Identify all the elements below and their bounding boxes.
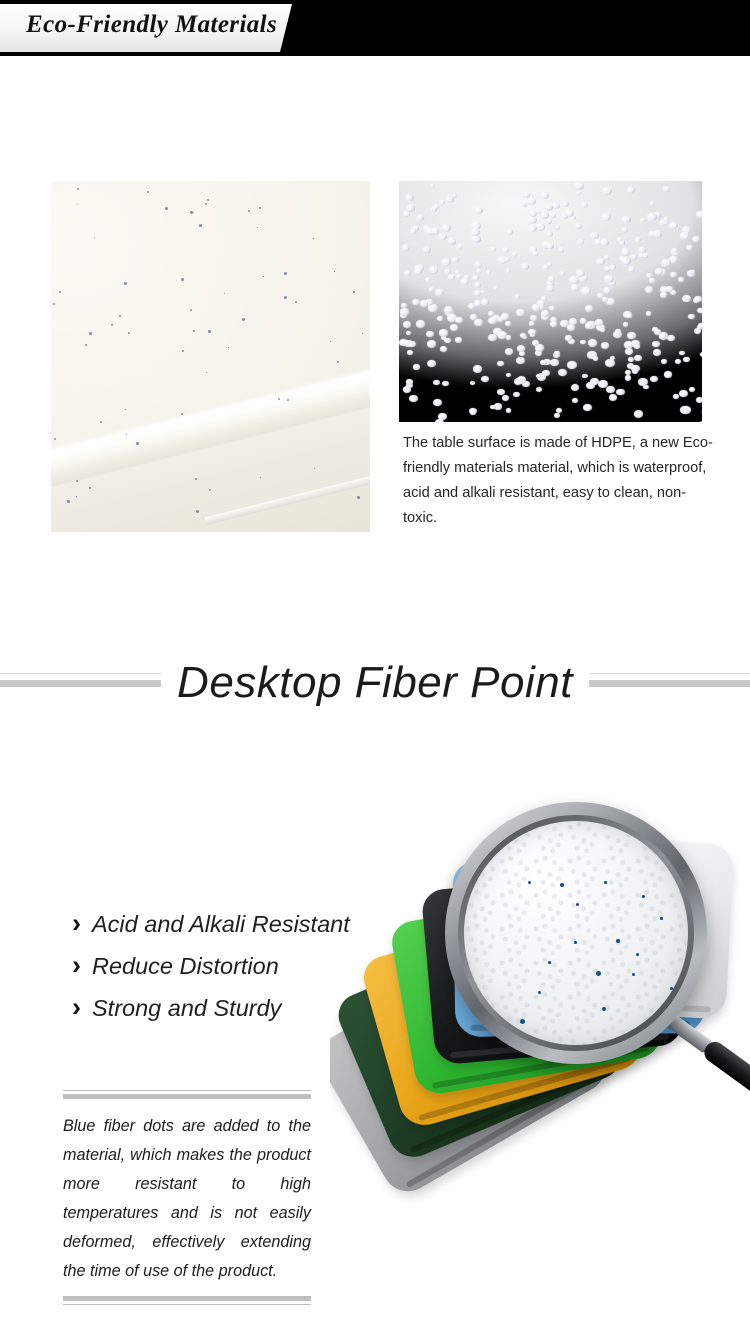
- hdpe-pellet: [650, 201, 655, 205]
- fiber-dot: [295, 301, 297, 303]
- hdpe-pellet: [646, 273, 652, 278]
- hdpe-pellet: [628, 357, 634, 362]
- hdpe-pellet: [506, 408, 511, 412]
- bullet-acid-alkali-resistant: › Acid and Alkali Resistant: [72, 910, 452, 952]
- hdpe-pellet: [630, 254, 637, 260]
- hdpe-pellet: [527, 216, 537, 224]
- hdpe-pellet: [696, 211, 702, 218]
- hdpe-pellet: [604, 255, 609, 259]
- hdpe-pellet: [416, 215, 423, 221]
- hdpe-pellet: [541, 296, 547, 301]
- fiber-dot: [199, 224, 202, 227]
- fiber-dot: [228, 347, 229, 348]
- hdpe-pellet: [516, 357, 525, 364]
- hdpe-pellet: [678, 277, 684, 282]
- fiber-dot: [59, 291, 61, 293]
- fiber-dot: [314, 468, 315, 469]
- hdpe-pellet: [427, 340, 436, 347]
- hdpe-pellet: [696, 397, 702, 403]
- fiber-dot: [636, 953, 639, 956]
- hdpe-pellet: [590, 378, 598, 385]
- hdpe-pellet: [429, 287, 434, 291]
- fiber-note-block: Blue fiber dots are added to the materia…: [63, 1090, 311, 1305]
- hdpe-pellet: [536, 223, 545, 231]
- hdpe-pellet: [476, 269, 482, 274]
- hdpe-pellet: [423, 246, 431, 252]
- hdpe-pellet: [692, 236, 699, 242]
- hdpe-pellet: [555, 225, 561, 230]
- hdpe-pellet: [550, 359, 558, 366]
- hdpe-pellet: [545, 231, 552, 237]
- hdpe-pellet: [660, 292, 667, 298]
- hdpe-pellet: [406, 204, 415, 212]
- hdpe-pellet: [625, 348, 634, 355]
- fiber-dot: [54, 438, 56, 440]
- fiber-point-illustration: [330, 780, 750, 1341]
- hdpe-pellet: [406, 379, 413, 384]
- bullet-label: Strong and Sturdy: [92, 995, 281, 1022]
- hdpe-pellet: [426, 331, 434, 337]
- hdpe-pellet: [635, 237, 641, 242]
- hdpe-pellet: [645, 286, 654, 293]
- bullet-label: Reduce Distortion: [92, 953, 279, 980]
- fiber-dot: [660, 917, 663, 920]
- hdpe-pellet: [550, 213, 556, 218]
- chevron-right-icon: ›: [72, 952, 81, 979]
- fiber-dot: [616, 939, 620, 943]
- hdpe-pellet: [596, 258, 605, 265]
- hdpe-pellet: [580, 340, 585, 344]
- hdpe-pellet: [627, 332, 636, 339]
- fiber-dot: [208, 330, 211, 333]
- fiber-dot: [181, 413, 183, 415]
- hdpe-pellet: [470, 314, 477, 320]
- fiber-dot: [195, 478, 197, 480]
- fiber-dot: [206, 372, 207, 373]
- table-surface-photo: [51, 181, 370, 532]
- magnifier-lens-texture: [464, 821, 688, 1045]
- fiber-dot: [602, 1007, 606, 1011]
- fiber-dot: [287, 399, 289, 401]
- hdpe-pellet: [634, 355, 641, 361]
- fiber-dot: [128, 332, 130, 334]
- hdpe-pellet: [585, 323, 592, 329]
- hdpe-pellet: [576, 191, 581, 195]
- hdpe-pellet: [583, 404, 591, 411]
- fiber-dot: [538, 991, 541, 994]
- hdpe-pellet: [576, 269, 586, 277]
- hdpe-pellet: [602, 187, 612, 195]
- hdpe-pellet: [429, 266, 438, 273]
- hdpe-pellet: [655, 268, 663, 275]
- hdpe-pellet: [634, 410, 644, 418]
- fiber-dot: [76, 480, 78, 482]
- hdpe-pellet: [595, 319, 603, 326]
- fiber-dot: [560, 883, 564, 887]
- hdpe-pellet: [548, 276, 555, 282]
- hdpe-pellet: [567, 361, 577, 369]
- hdpe-pellet: [540, 211, 550, 219]
- bullet-label: Acid and Alkali Resistant: [92, 911, 350, 938]
- hdpe-pellet: [601, 213, 610, 221]
- magnifier: [445, 802, 707, 1064]
- hdpe-pellet: [403, 211, 410, 217]
- hdpe-pellet: [540, 360, 547, 365]
- fiber-dot: [576, 903, 579, 906]
- hdpe-pellet: [625, 375, 631, 380]
- hdpe-pellet: [666, 286, 673, 292]
- hdpe-pellet: [546, 218, 552, 223]
- hdpe-pellet: [536, 374, 541, 378]
- hdpe-pellet: [532, 340, 539, 346]
- hdpe-pellet: [661, 259, 671, 267]
- hdpe-pellet: [412, 299, 420, 305]
- hdpe-pellet: [474, 207, 482, 214]
- hdpe-pellet: [606, 386, 615, 394]
- hdpe-pellet: [673, 394, 679, 399]
- hdpe-pellet: [439, 200, 445, 205]
- fiber-dot: [260, 477, 261, 478]
- hdpe-pellet: [661, 359, 667, 364]
- fiber-dot: [126, 434, 127, 435]
- hdpe-pellet: [670, 272, 676, 277]
- hdpe-pellet: [609, 394, 618, 401]
- hdpe-pellet: [448, 237, 457, 244]
- hdpe-pellet: [472, 275, 479, 281]
- bullet-strong-and-sturdy: › Strong and Sturdy: [72, 994, 452, 1036]
- fiber-dot: [574, 941, 577, 944]
- hdpe-pellet: [498, 317, 503, 321]
- hdpe-pellet: [653, 230, 662, 238]
- fiber-dot: [596, 971, 601, 976]
- hdpe-pellet: [517, 376, 526, 383]
- hdpe-pellet: [604, 275, 614, 283]
- hdpe-pellet: [694, 328, 701, 334]
- fiber-dot: [111, 324, 113, 326]
- hdpe-pellet: [520, 333, 526, 338]
- hdpe-pellet: [474, 290, 481, 296]
- hdpe-pellet: [405, 194, 414, 202]
- section-title-text: Desktop Fiber Point: [161, 650, 589, 716]
- hdpe-pellet: [602, 297, 608, 302]
- note-rule-bottom-thick: [63, 1296, 311, 1301]
- hdpe-pellet: [689, 387, 695, 392]
- hdpe-pellet: [505, 348, 513, 355]
- hdpe-pellet: [471, 235, 480, 243]
- hdpe-pellet: [669, 222, 677, 229]
- hdpe-pellet: [452, 193, 458, 198]
- hdpe-pellet: [401, 303, 407, 308]
- hdpe-pellet: [682, 406, 692, 414]
- magnifier-lens: [464, 821, 688, 1045]
- note-rule-bottom-thin: [63, 1304, 311, 1305]
- hdpe-pellet: [572, 398, 578, 403]
- hdpe-pellet: [575, 223, 582, 229]
- hdpe-pellet: [481, 376, 489, 382]
- hdpe-pellet: [663, 217, 670, 222]
- hdpe-pellet: [441, 258, 451, 266]
- hdpe-pellet: [427, 360, 436, 367]
- hdpe-pellet: [621, 248, 630, 256]
- fiber-dot: [165, 207, 168, 210]
- hdpe-pellet: [527, 197, 536, 204]
- hdpe-pellet: [444, 338, 451, 343]
- hdpe-pellet: [544, 204, 552, 211]
- hdpe-pellet: [438, 413, 446, 420]
- hdpe-pellet: [474, 319, 483, 326]
- fiber-dot: [124, 282, 127, 285]
- hdpe-pellet: [514, 294, 520, 299]
- hdpe-pellet: [659, 333, 666, 339]
- hdpe-pellet: [558, 247, 564, 252]
- hdpe-pellet: [497, 331, 507, 339]
- fiber-dot: [670, 987, 673, 990]
- fiber-dot: [259, 207, 261, 209]
- hdpe-pellet: [403, 321, 411, 328]
- hdpe-pellet: [623, 322, 628, 326]
- hdpe-pellet: [600, 328, 605, 332]
- hdpe-pellet: [521, 263, 529, 270]
- hdpe-pellet: [697, 308, 702, 314]
- hdpe-pellet: [530, 315, 537, 321]
- materials-description: The table surface is made of HDPE, a new…: [403, 431, 713, 531]
- hdpe-pellet: [652, 341, 660, 348]
- hdpe-pellet: [605, 359, 615, 367]
- hdpe-pellet: [505, 321, 510, 326]
- hdpe-pellet: [433, 399, 442, 406]
- hdpe-pellet: [699, 421, 702, 423]
- hdpe-pellet: [497, 361, 503, 366]
- hdpe-pellet: [564, 209, 573, 217]
- hdpe-pellet: [593, 356, 598, 360]
- chevron-right-icon: ›: [72, 910, 81, 937]
- hdpe-pellet: [653, 349, 661, 356]
- hdpe-pellet: [438, 233, 447, 240]
- hdpe-pellet: [590, 232, 598, 239]
- hdpe-pellet: [643, 253, 649, 258]
- hdpe-pellet: [470, 410, 476, 415]
- header-title: Eco-Friendly Materials: [26, 11, 277, 39]
- hdpe-pellet: [609, 265, 615, 270]
- fiber-dot: [89, 487, 91, 489]
- hdpe-pellet: [490, 405, 495, 409]
- hdpe-pellet: [619, 241, 624, 245]
- fiber-dot: [520, 1019, 525, 1024]
- hdpe-pellet: [493, 286, 498, 290]
- hdpe-pellet: [413, 364, 420, 369]
- fiber-dot: [207, 199, 209, 201]
- feature-bullet-list: › Acid and Alkali Resistant › Reduce Dis…: [72, 910, 452, 1036]
- hdpe-pellet: [441, 224, 451, 232]
- hdpe-pellet: [439, 329, 448, 336]
- hdpe-pellet: [460, 278, 469, 285]
- fiber-dot: [548, 961, 551, 964]
- hdpe-pellet: [521, 202, 527, 207]
- hdpe-pellet: [455, 337, 462, 343]
- hdpe-pellets-photo: [399, 181, 702, 422]
- note-rule-top-thin: [63, 1090, 311, 1091]
- materials-description-text: The table surface is made of HDPE, a new…: [403, 431, 713, 531]
- hdpe-pellet: [488, 311, 494, 316]
- hdpe-pellet: [502, 395, 510, 401]
- hdpe-pellet: [698, 323, 702, 328]
- fiber-dot: [242, 318, 245, 321]
- hdpe-pellet: [571, 284, 579, 290]
- hdpe-pellet: [581, 202, 588, 208]
- hdpe-pellet: [532, 304, 540, 310]
- fiber-dot: [77, 188, 79, 190]
- hdpe-pellet: [400, 308, 409, 315]
- fiber-dot: [181, 278, 184, 281]
- chevron-right-icon: ›: [72, 994, 81, 1021]
- hdpe-pellet: [664, 371, 672, 377]
- hdpe-pellet: [649, 278, 655, 283]
- hdpe-pellet: [444, 306, 454, 314]
- hdpe-pellet: [582, 374, 588, 379]
- hdpe-pellet: [416, 320, 425, 328]
- hdpe-pellet: [435, 289, 444, 297]
- fiber-dot: [528, 881, 531, 884]
- hdpe-pellet: [444, 269, 451, 275]
- hdpe-pellet: [470, 381, 475, 385]
- hdpe-pellet: [581, 287, 590, 295]
- hdpe-pellet: [431, 228, 439, 234]
- hdpe-pellet: [627, 187, 635, 194]
- hdpe-pellet: [552, 203, 560, 209]
- page-header: Eco-Friendly Materials: [0, 0, 750, 56]
- hdpe-pellet: [448, 274, 455, 280]
- fiber-dot: [604, 881, 607, 884]
- hdpe-pellet: [402, 244, 411, 251]
- hdpe-pellet: [450, 324, 458, 331]
- hdpe-pellet: [442, 381, 448, 386]
- hdpe-pellet: [455, 317, 462, 323]
- fiber-dot: [642, 895, 645, 898]
- hdpe-pellet: [506, 229, 513, 235]
- hdpe-pellet: [410, 229, 416, 234]
- hdpe-pellet: [407, 350, 413, 355]
- fiber-note-text: Blue fiber dots are added to the materia…: [63, 1099, 311, 1296]
- section-title-band: Desktop Fiber Point: [0, 650, 750, 730]
- fiber-dot: [196, 510, 199, 513]
- section-title: Desktop Fiber Point: [0, 650, 750, 716]
- magnifier-handle-grip: [700, 1038, 750, 1118]
- hdpe-pellet: [569, 318, 577, 325]
- hdpe-pellet: [627, 314, 632, 318]
- hdpe-pellet: [621, 216, 630, 224]
- hdpe-pellet: [571, 384, 579, 391]
- hdpe-pellet: [638, 378, 648, 386]
- hdpe-pellet: [437, 316, 443, 321]
- hdpe-pellet: [536, 209, 541, 213]
- fiber-dot: [209, 489, 211, 491]
- hdpe-pellet: [403, 386, 411, 392]
- fiber-dot: [284, 272, 287, 275]
- hdpe-pellet: [440, 346, 447, 352]
- hdpe-pellet: [621, 227, 628, 233]
- hdpe-pellet: [471, 228, 481, 236]
- hdpe-pellet: [616, 389, 624, 396]
- hdpe-pellet: [634, 344, 641, 349]
- hdpe-pellet: [667, 335, 675, 341]
- hdpe-pellet: [529, 321, 534, 325]
- fiber-dot: [119, 315, 121, 317]
- hdpe-pellet: [558, 369, 567, 376]
- fiber-dot: [632, 973, 635, 976]
- hdpe-pellet: [565, 335, 572, 340]
- bullet-reduce-distortion: › Reduce Distortion: [72, 952, 452, 994]
